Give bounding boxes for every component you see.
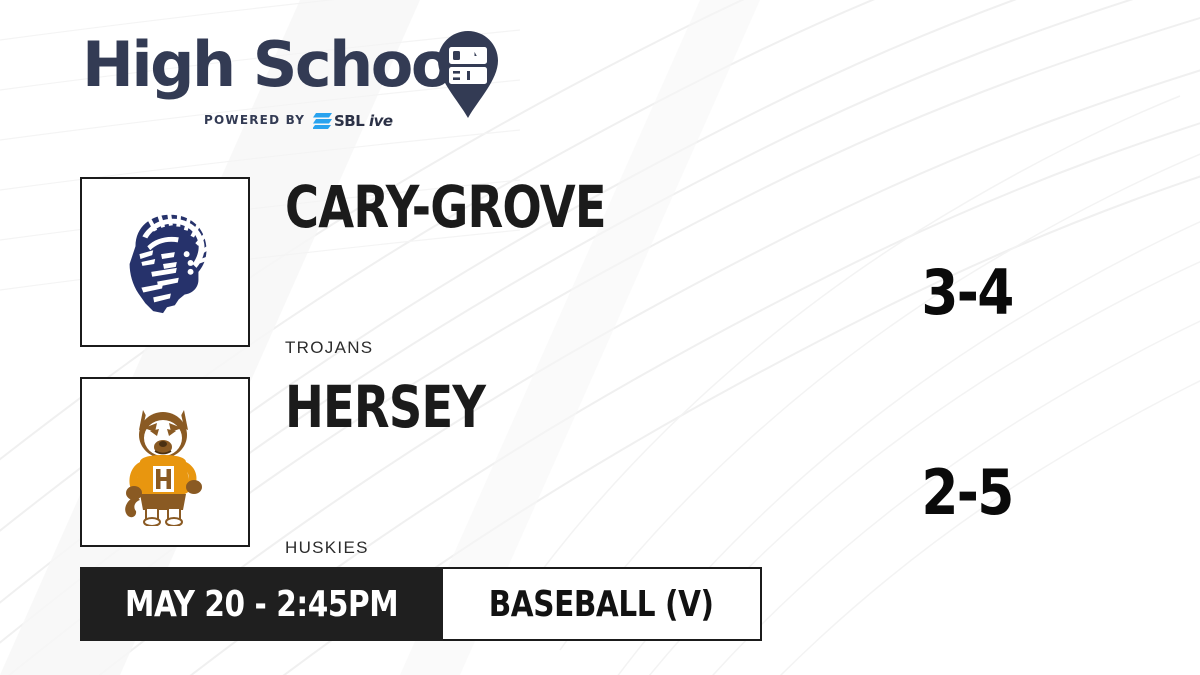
- team-name: HERSEY: [285, 378, 485, 436]
- team-logo-box: [80, 177, 250, 347]
- team-mascot-label: TROJANS: [285, 338, 373, 358]
- game-info-bar: MAY 20 - 2:45PM BASEBALL (V): [80, 567, 762, 641]
- brand-wordmark: High School: [82, 34, 470, 96]
- svg-text:ive: ive: [369, 112, 393, 130]
- brand-header: High School POWERED BY: [82, 34, 512, 138]
- on-si-pin-icon: [434, 30, 502, 120]
- powered-by-row: POWERED BY SBL ive: [204, 110, 409, 130]
- game-sport-text: BASEBALL (V): [489, 584, 714, 625]
- sblive-logo-icon: SBL ive: [313, 110, 409, 130]
- svg-text:SBL: SBL: [334, 112, 365, 130]
- team-record: 2-5: [881, 462, 1053, 524]
- game-sport-panel: BASEBALL (V): [443, 567, 762, 641]
- husky-mascot-icon: [110, 398, 220, 526]
- team-record: 3-4: [881, 262, 1053, 324]
- game-datetime-panel: MAY 20 - 2:45PM: [80, 567, 443, 641]
- team-logo-box: [80, 377, 250, 547]
- trojan-helmet-icon: [106, 203, 224, 321]
- game-datetime-text: MAY 20 - 2:45PM: [125, 584, 398, 625]
- team-name: CARY-GROVE: [285, 178, 606, 236]
- matchup-graphic: High School POWERED BY: [0, 0, 1200, 675]
- team-mascot-label: HUSKIES: [285, 538, 369, 558]
- powered-by-label: POWERED BY: [204, 113, 305, 127]
